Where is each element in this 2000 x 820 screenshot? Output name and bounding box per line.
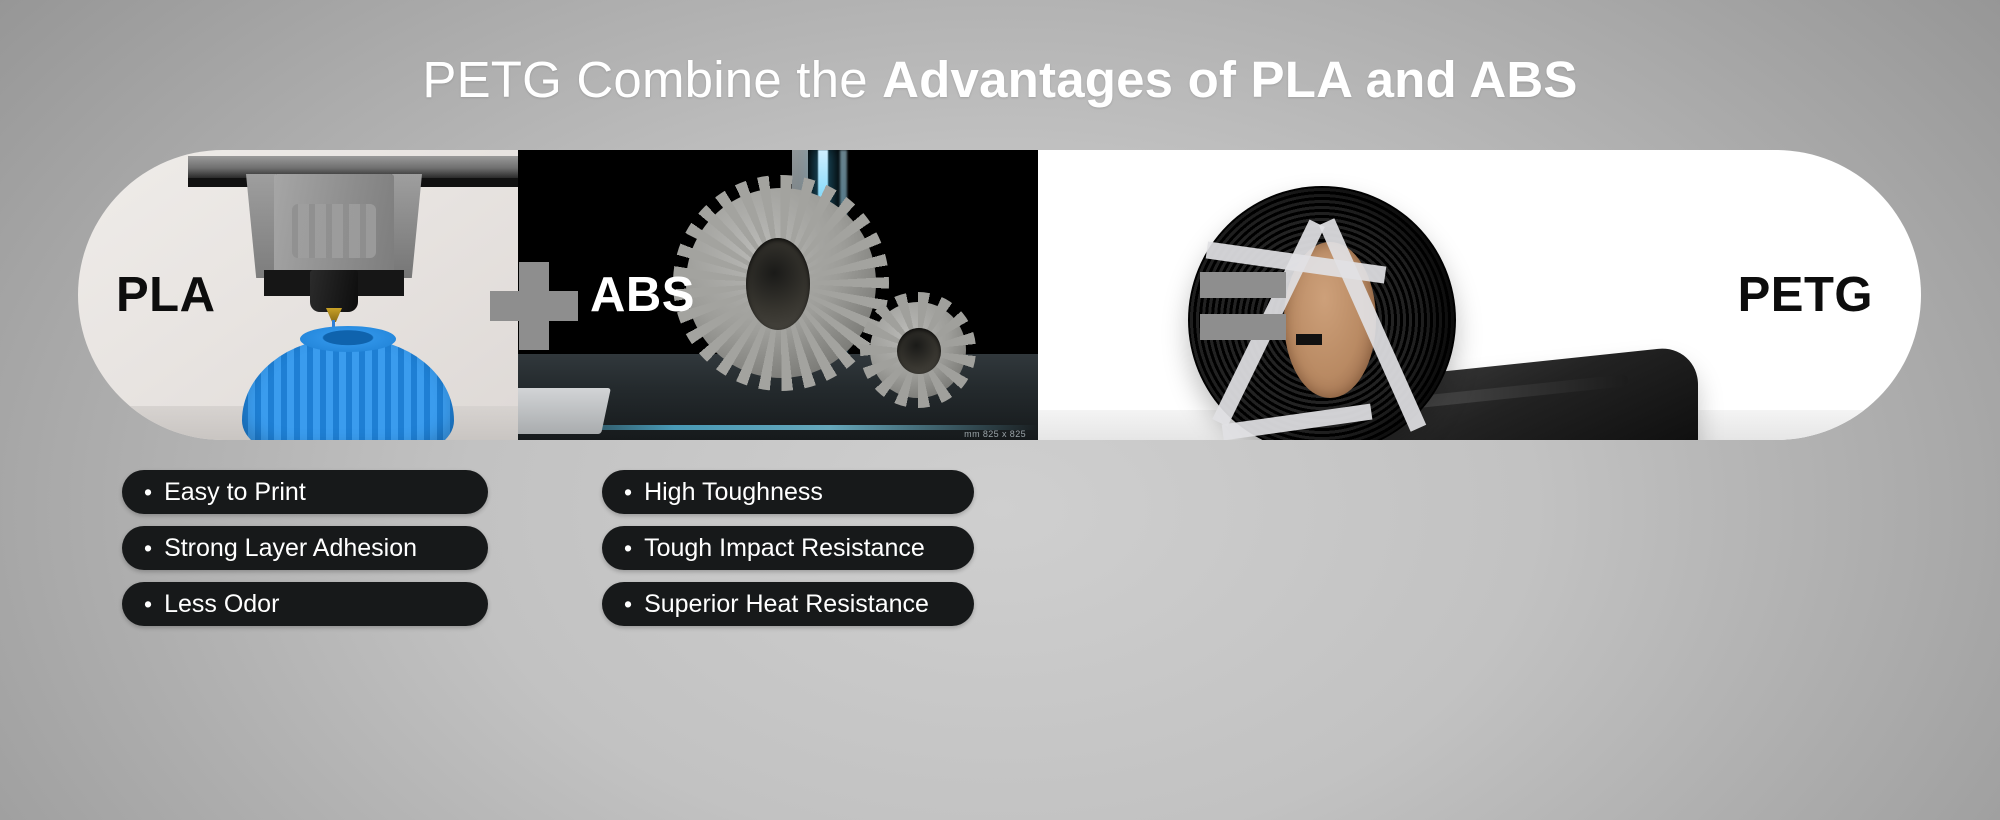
equals-top-bar [1200,272,1286,298]
feature-list-abs: • High Toughness • Tough Impact Resistan… [602,470,974,626]
feature-list-pla: • Easy to Print • Strong Layer Adhesion … [122,470,488,626]
bullet-icon: • [624,481,632,504]
bullet-icon: • [144,481,152,504]
printhead-right-shoulder-icon [392,174,422,278]
bullet-icon: • [624,537,632,560]
feature-pill-pla-1[interactable]: • Easy to Print [122,470,488,514]
feature-pill-label: Tough Impact Resistance [644,536,925,561]
gear-bore-icon [746,238,810,330]
equals-operator-icon [1200,272,1286,340]
panel-pla: PLA [78,150,518,440]
comparison-capsule: PLA mm 825 x 825 ABS [78,150,1921,440]
core-marking-icon [1296,334,1322,345]
feature-pill-label: Strong Layer Adhesion [164,536,417,561]
equals-bottom-bar [1200,314,1286,340]
feature-pill-pla-2[interactable]: • Strong Layer Adhesion [122,526,488,570]
gear-bore-icon [897,328,941,374]
feature-pill-label: Less Odor [164,592,279,617]
feature-pill-abs-1[interactable]: • High Toughness [602,470,974,514]
panel-label-abs: ABS [590,267,695,323]
feature-pill-label: Easy to Print [164,480,306,505]
bullet-icon: • [144,537,152,560]
large-printed-gear-icon [686,188,876,378]
panel-label-petg: PETG [1738,267,1873,323]
feature-pill-label: High Toughness [644,480,823,505]
small-printed-gear-icon [870,302,966,398]
bullet-icon: • [624,593,632,616]
nozzle-body-icon [310,270,358,312]
printhead-left-shoulder-icon [246,174,276,278]
page-title-light: PETG Combine the [422,51,882,108]
panel-petg: PETG [1038,150,1921,440]
bed-size-label: mm 825 x 825 [964,429,1026,439]
feature-pill-abs-3[interactable]: • Superior Heat Resistance [602,582,974,626]
printer-touchscreen-icon [518,388,611,434]
plus-operator-icon [490,262,578,350]
bullet-icon: • [144,593,152,616]
page-title-bold: Advantages of PLA and ABS [882,51,1577,108]
blue-printed-vase-icon [242,338,454,440]
panel-abs: mm 825 x 825 ABS [518,150,1038,440]
feature-pill-pla-3[interactable]: • Less Odor [122,582,488,626]
page-title: PETG Combine the Advantages of PLA and A… [0,52,2000,108]
feature-pill-label: Superior Heat Resistance [644,592,929,617]
plus-vertical-bar [519,262,549,350]
panel-label-pla: PLA [116,267,216,323]
feature-pill-abs-2[interactable]: • Tough Impact Resistance [602,526,974,570]
